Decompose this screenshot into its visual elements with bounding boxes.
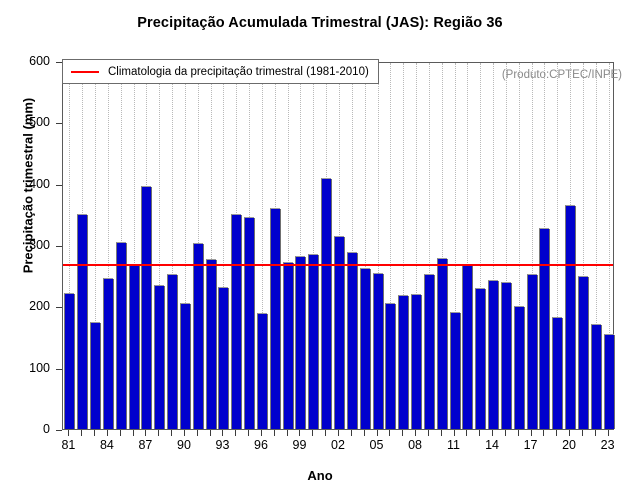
x-tick-mark [505, 430, 506, 436]
x-tick-mark [582, 430, 583, 436]
x-tick-label: 90 [169, 438, 199, 452]
x-tick-label: 11 [439, 438, 469, 452]
x-tick-mark [145, 430, 146, 436]
x-tick-mark [377, 430, 378, 436]
y-tick-mark [56, 185, 62, 186]
x-tick-mark [351, 430, 352, 436]
y-tick-mark [56, 246, 62, 247]
climatology-reference-line [63, 63, 613, 429]
x-tick-mark [68, 430, 69, 436]
x-tick-label: 99 [284, 438, 314, 452]
x-tick-mark [518, 430, 519, 436]
x-tick-mark [595, 430, 596, 436]
x-tick-label: 81 [53, 438, 83, 452]
x-tick-label: 20 [554, 438, 584, 452]
x-tick-mark [210, 430, 211, 436]
x-tick-mark [479, 430, 480, 436]
legend: Climatologia da precipitação trimestral … [62, 59, 379, 84]
x-tick-mark [107, 430, 108, 436]
x-tick-mark [235, 430, 236, 436]
x-tick-mark [325, 430, 326, 436]
y-axis-title: Precipitação trimestral (mm) [21, 36, 36, 336]
y-tick-mark [56, 369, 62, 370]
x-tick-mark [454, 430, 455, 436]
chart-title: Precipitação Acumulada Trimestral (JAS):… [0, 15, 640, 31]
x-tick-mark [466, 430, 467, 436]
x-tick-mark [158, 430, 159, 436]
producer-credit: (Produto:CPTEC/INPE) [502, 69, 622, 81]
x-tick-label: 08 [400, 438, 430, 452]
x-tick-mark [569, 430, 570, 436]
legend-item-label: Climatologia da precipitação trimestral … [108, 66, 369, 78]
y-tick-mark [56, 123, 62, 124]
climatology-line [63, 264, 613, 266]
y-tick-mark [56, 430, 62, 431]
x-tick-mark [261, 430, 262, 436]
plot-area [62, 62, 614, 430]
x-tick-mark [608, 430, 609, 436]
x-tick-label: 14 [477, 438, 507, 452]
x-tick-mark [299, 430, 300, 436]
x-tick-mark [364, 430, 365, 436]
x-tick-mark [531, 430, 532, 436]
x-tick-mark [492, 430, 493, 436]
x-tick-mark [81, 430, 82, 436]
x-tick-mark [197, 430, 198, 436]
x-tick-mark [543, 430, 544, 436]
x-tick-mark [428, 430, 429, 436]
x-tick-label: 17 [516, 438, 546, 452]
x-tick-label: 84 [92, 438, 122, 452]
x-tick-mark [133, 430, 134, 436]
y-tick-label: 100 [6, 361, 50, 375]
x-tick-mark [120, 430, 121, 436]
y-tick-mark [56, 307, 62, 308]
x-tick-label: 05 [362, 438, 392, 452]
x-tick-label: 87 [130, 438, 160, 452]
x-tick-label: 23 [593, 438, 623, 452]
x-tick-mark [94, 430, 95, 436]
x-tick-mark [415, 430, 416, 436]
x-tick-mark [274, 430, 275, 436]
x-tick-mark [287, 430, 288, 436]
x-tick-label: 02 [323, 438, 353, 452]
x-tick-mark [441, 430, 442, 436]
x-tick-mark [184, 430, 185, 436]
x-tick-mark [248, 430, 249, 436]
x-tick-mark [389, 430, 390, 436]
x-tick-mark [222, 430, 223, 436]
y-tick-label: 0 [6, 422, 50, 436]
legend-line-swatch [71, 71, 99, 73]
x-tick-label: 96 [246, 438, 276, 452]
x-tick-mark [402, 430, 403, 436]
x-axis-title: Ano [0, 468, 640, 483]
x-tick-label: 93 [207, 438, 237, 452]
x-tick-mark [338, 430, 339, 436]
x-tick-mark [171, 430, 172, 436]
chart-root: Precipitação Acumulada Trimestral (JAS):… [0, 0, 640, 500]
x-tick-mark [556, 430, 557, 436]
x-tick-mark [312, 430, 313, 436]
